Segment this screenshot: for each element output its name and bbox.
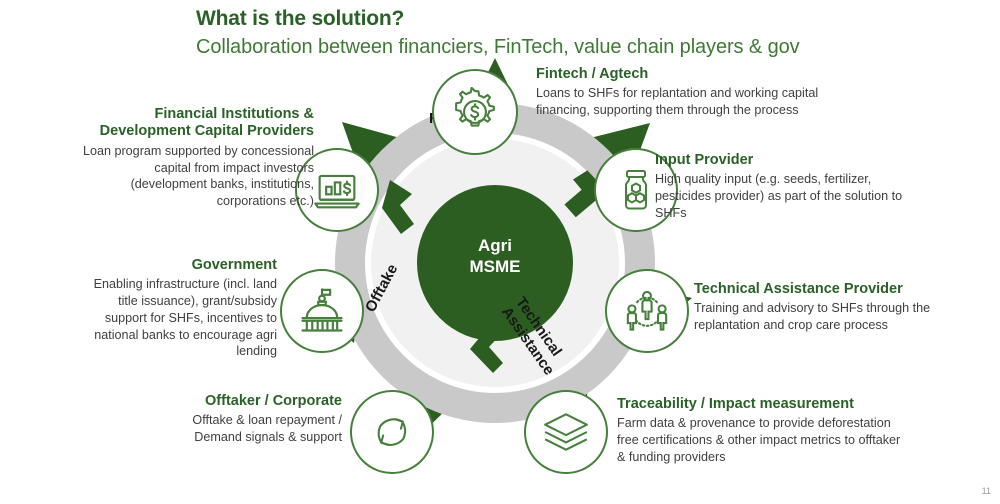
callout-government-title: Government bbox=[82, 257, 277, 274]
page-number: 11 bbox=[982, 486, 991, 496]
callout-input-provider: Input Provider High quality input (e.g. … bbox=[655, 152, 927, 222]
callout-technical-assistance-provider: Technical Assistance Provider Training a… bbox=[694, 281, 946, 334]
people-group-icon bbox=[605, 269, 689, 353]
callout-financial-institutions-body: Loan program supported by concessional c… bbox=[82, 143, 314, 210]
callout-traceability: Traceability / Impact measurement Farm d… bbox=[617, 396, 907, 466]
slide-canvas: What is the solution? Collaboration betw… bbox=[0, 0, 1000, 504]
page-title: What is the solution? bbox=[196, 6, 896, 32]
callout-government: Government Enabling infrastructure (incl… bbox=[82, 257, 277, 360]
wheel-center-line2: MSME bbox=[429, 257, 561, 278]
callout-offtaker-body: Offtake & loan repayment / Demand signal… bbox=[142, 412, 342, 445]
callout-offtaker-title: Offtaker / Corporate bbox=[142, 393, 342, 410]
callout-traceability-title: Traceability / Impact measurement bbox=[617, 396, 907, 413]
circular-arrows-icon bbox=[350, 390, 434, 474]
callout-offtaker: Offtaker / Corporate Offtake & loan repa… bbox=[142, 393, 342, 446]
gear-dollar-icon bbox=[432, 69, 518, 155]
capitol-building-icon bbox=[280, 269, 364, 353]
callout-traceability-body: Farm data & provenance to provide defore… bbox=[617, 415, 907, 465]
callout-technical-assistance-body: Training and advisory to SHFs through th… bbox=[694, 300, 946, 333]
callout-fintech-body: Loans to SHFs for replantation and worki… bbox=[536, 85, 826, 118]
callout-input-provider-body: High quality input (e.g. seeds, fertiliz… bbox=[655, 171, 927, 221]
callout-government-body: Enabling infrastructure (incl. land titl… bbox=[82, 276, 277, 360]
wheel-center-label: Agri MSME bbox=[429, 236, 561, 277]
callout-input-provider-title: Input Provider bbox=[655, 152, 927, 169]
wheel-center-line1: Agri bbox=[429, 236, 561, 257]
callout-technical-assistance-title: Technical Assistance Provider bbox=[694, 281, 946, 298]
callout-fintech-title: Fintech / Agtech bbox=[536, 66, 826, 83]
page-subtitle: Collaboration between financiers, FinTec… bbox=[196, 34, 896, 60]
title-block: What is the solution? Collaboration betw… bbox=[196, 6, 896, 60]
callout-financial-institutions: Financial Institutions & Development Cap… bbox=[82, 106, 314, 210]
callout-fintech: Fintech / Agtech Loans to SHFs for repla… bbox=[536, 66, 826, 119]
callout-financial-institutions-title: Financial Institutions & Development Cap… bbox=[82, 106, 314, 141]
layers-stack-icon bbox=[524, 390, 608, 474]
